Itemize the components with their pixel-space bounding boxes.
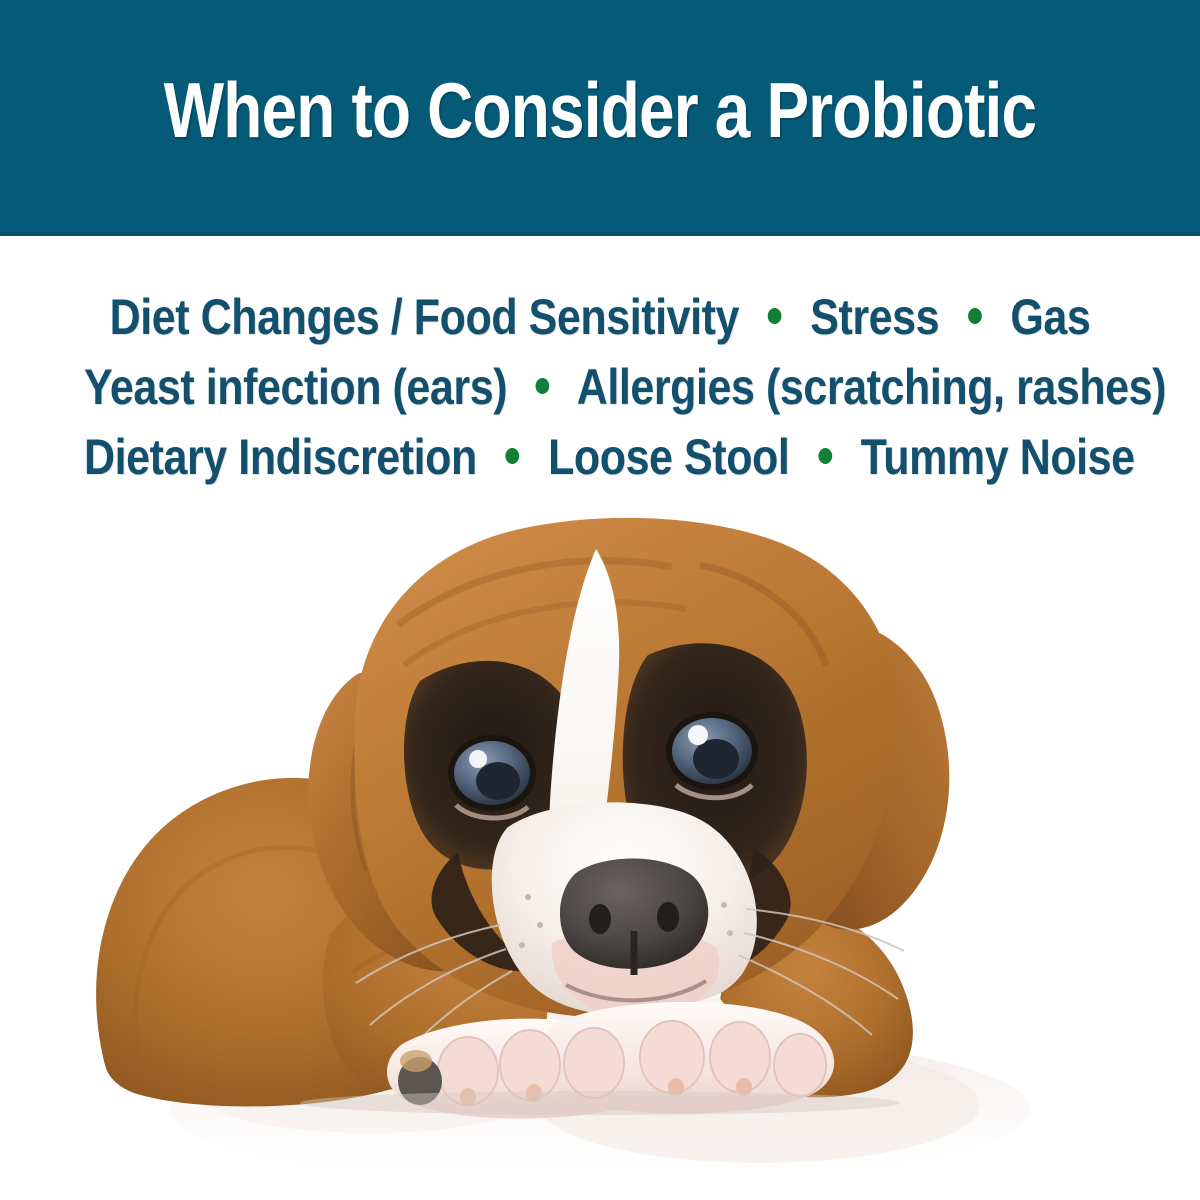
bullet-dot-icon: [968, 308, 982, 324]
condition-stress: Stress: [810, 289, 939, 345]
condition-allergies: Allergies (scratching, rashes): [577, 359, 1166, 415]
condition-dietary-indiscretion: Dietary Indiscretion: [84, 429, 477, 485]
bullet-dot-icon: [768, 308, 782, 324]
banner-bottom-edge: [0, 232, 1200, 236]
probiotic-infographic: When to Consider a Probiotic Diet Change…: [0, 0, 1200, 1200]
bullet-dot-icon: [818, 448, 832, 464]
condition-tummy-noise: Tummy Noise: [861, 429, 1135, 485]
puppy-photo: [0, 505, 1200, 1200]
bullet-dot-icon: [506, 448, 520, 464]
condition-loose-stool: Loose Stool: [548, 429, 789, 485]
condition-yeast-infection: Yeast infection (ears): [84, 359, 507, 415]
condition-gas: Gas: [1010, 289, 1090, 345]
condition-line-1: Diet Changes / Food Sensitivity Stress G…: [84, 282, 1116, 352]
condition-diet-changes: Diet Changes / Food Sensitivity: [110, 289, 739, 345]
bullet-dot-icon: [536, 378, 550, 394]
condition-line-2: Yeast infection (ears) Allergies (scratc…: [84, 352, 1116, 422]
page-title: When to Consider a Probiotic: [108, 66, 1092, 154]
condition-list: Diet Changes / Food Sensitivity Stress G…: [0, 282, 1200, 492]
condition-line-3: Dietary Indiscretion Loose Stool Tummy N…: [84, 422, 1116, 492]
